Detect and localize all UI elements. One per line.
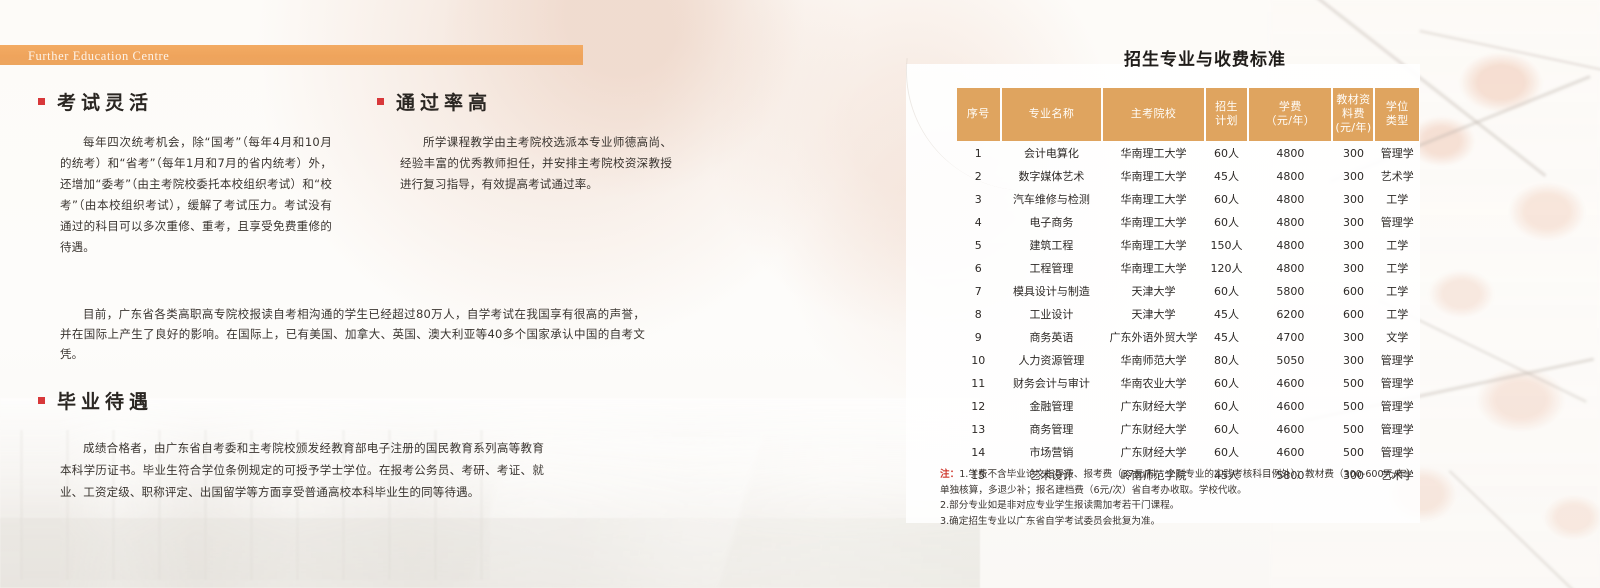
table-column-header-1: 序号 [957, 88, 1000, 141]
table-cell: 人力资源管理 [1002, 348, 1102, 371]
table-row: 4电子商务华南理工大学60人4800300管理学 [957, 210, 1419, 233]
table-cell: 4800 [1249, 233, 1331, 256]
table-column-header-6: 教材资料费(元/年) [1333, 88, 1373, 141]
bullet-square-icon [377, 98, 384, 105]
table-row: 9商务英语广东外语外贸大学45人4700300文学 [957, 325, 1419, 348]
table-row: 2数字媒体艺术华南理工大学45人4800300艺术学 [957, 164, 1419, 187]
section-heading-graduation: 毕业待遇 [38, 387, 153, 414]
table-cell: 45人 [1206, 164, 1248, 187]
table-cell: 600 [1333, 279, 1373, 302]
table-cell: 华南师范大学 [1103, 348, 1203, 371]
table-cell: 60人 [1206, 394, 1248, 417]
table-cell: 工学 [1375, 302, 1419, 325]
table-cell: 120人 [1206, 256, 1248, 279]
table-cell: 工业设计 [1002, 302, 1102, 325]
table-cell: 500 [1333, 440, 1373, 463]
table-cell: 6 [957, 256, 1000, 279]
notes-line-text: 1.学费不含毕业论文指导费、报考费（37元/科，个别专业的实践考核科目例外）；教… [959, 469, 1415, 480]
table-cell: 华南理工大学 [1103, 141, 1203, 164]
table-cell: 数字媒体艺术 [1002, 164, 1102, 187]
table-cell: 300 [1333, 187, 1373, 210]
table-cell: 市场营销 [1002, 440, 1102, 463]
table-cell: 600 [1333, 302, 1373, 325]
table-cell: 500 [1333, 417, 1373, 440]
table-cell: 4600 [1249, 371, 1331, 394]
table-row: 7模具设计与制造天津大学60人5800600工学 [957, 279, 1419, 302]
table-cell: 300 [1333, 233, 1373, 256]
table-cell: 3 [957, 187, 1000, 210]
table-cell: 管理学 [1375, 394, 1419, 417]
table-column-header-5: 学费（元/年） [1249, 88, 1331, 141]
table-cell: 1 [957, 141, 1000, 164]
table-cell: 4600 [1249, 440, 1331, 463]
table-cell: 商务管理 [1002, 417, 1102, 440]
table-cell: 7 [957, 279, 1000, 302]
bullet-square-icon [38, 98, 45, 105]
table-cell: 500 [1333, 394, 1373, 417]
table-cell: 4800 [1249, 210, 1331, 233]
table-cell: 工学 [1375, 256, 1419, 279]
table-cell: 广东财经大学 [1103, 417, 1203, 440]
table-cell: 广东财经大学 [1103, 394, 1203, 417]
table-cell: 广东外语外贸大学 [1103, 325, 1203, 348]
table-cell: 4800 [1249, 164, 1331, 187]
table-row: 1会计电算化华南理工大学60人4800300管理学 [957, 141, 1419, 164]
table-cell: 9 [957, 325, 1000, 348]
section-paragraph-graduation: 成绩合格者，由广东省自考委和主考院校颁发经教育部电子注册的国民教育系列高等教育本… [60, 437, 544, 503]
notes-line: 注：1.学费不含毕业论文指导费、报考费（37元/科，个别专业的实践考核科目例外）… [940, 467, 1430, 483]
table-cell: 5800 [1249, 279, 1331, 302]
table-row: 5建筑工程华南理工大学150人4800300工学 [957, 233, 1419, 256]
table-column-header-4: 招生计划 [1206, 88, 1248, 141]
notes-line: 3.确定招生专业以广东省自学考试委员会批复为准。 [940, 514, 1430, 530]
table-cell: 财务会计与审计 [1002, 371, 1102, 394]
notes-line: 单独核算，多退少补；报名建档费（6元/次）省自考办收取。学校代收。 [940, 483, 1430, 499]
section-paragraph-exam-flexible: 每年四次统考机会，除“国考”（每年4月和10月的统考）和“省考”（每年1月和7月… [60, 132, 332, 258]
table-cell: 60人 [1206, 440, 1248, 463]
table-cell: 80人 [1206, 348, 1248, 371]
table-cell: 5050 [1249, 348, 1331, 371]
table-cell: 60人 [1206, 141, 1248, 164]
notes-marker: 注： [940, 469, 959, 480]
table-cell: 4600 [1249, 417, 1331, 440]
table-cell: 45人 [1206, 302, 1248, 325]
section-heading-exam-flexible: 考试灵活 [38, 88, 153, 115]
table-cell: 300 [1333, 348, 1373, 371]
table-column-header-7: 学位类型 [1375, 88, 1419, 141]
table-notes: 注：1.学费不含毕业论文指导费、报考费（37元/科，个别专业的实践考核科目例外）… [940, 467, 1430, 529]
notes-line: 2.部分专业如是非对应专业学生报读需加考若干门课程。 [940, 498, 1430, 514]
section-paragraph-pass-rate: 所学课程教学由主考院校选派本专业师德高尚、经验丰富的优秀教师担任，并安排主考院校… [400, 132, 672, 195]
table-cell: 4 [957, 210, 1000, 233]
wide-paragraph: 目前，广东省各类高职高专院校报读自考相沟通的学生已经超过80万人，自学考试在我国… [60, 304, 645, 364]
table-cell: 艺术学 [1375, 164, 1419, 187]
section-title: 通过率高 [396, 88, 492, 115]
table-cell: 广东财经大学 [1103, 440, 1203, 463]
table-cell: 500 [1333, 371, 1373, 394]
table-cell: 4700 [1249, 325, 1331, 348]
table-cell: 工程管理 [1002, 256, 1102, 279]
table-cell: 4600 [1249, 394, 1331, 417]
table-cell: 300 [1333, 325, 1373, 348]
table-cell: 60人 [1206, 371, 1248, 394]
table-cell: 60人 [1206, 187, 1248, 210]
table-row: 3汽车维修与检测华南理工大学60人4800300工学 [957, 187, 1419, 210]
section-title: 毕业待遇 [57, 387, 153, 414]
table-cell: 300 [1333, 164, 1373, 187]
table-cell: 60人 [1206, 417, 1248, 440]
table-cell: 工学 [1375, 187, 1419, 210]
table-cell: 建筑工程 [1002, 233, 1102, 256]
table-cell: 华南理工大学 [1103, 164, 1203, 187]
table-cell: 4800 [1249, 141, 1331, 164]
table-cell: 6200 [1249, 302, 1331, 325]
table-cell: 工学 [1375, 279, 1419, 302]
table-cell: 60人 [1206, 279, 1248, 302]
table-cell: 管理学 [1375, 348, 1419, 371]
table-cell: 天津大学 [1103, 302, 1203, 325]
table-cell: 8 [957, 302, 1000, 325]
table-cell: 工学 [1375, 233, 1419, 256]
table-cell: 4800 [1249, 187, 1331, 210]
table-cell: 300 [1333, 256, 1373, 279]
table-cell: 管理学 [1375, 371, 1419, 394]
table-cell: 文学 [1375, 325, 1419, 348]
table-row: 10人力资源管理华南师范大学80人5050300管理学 [957, 348, 1419, 371]
section-title: 考试灵活 [57, 88, 153, 115]
table-cell: 汽车维修与检测 [1002, 187, 1102, 210]
table-cell: 5 [957, 233, 1000, 256]
table-column-header-2: 专业名称 [1002, 88, 1102, 141]
table-row: 14市场营销广东财经大学60人4600500管理学 [957, 440, 1419, 463]
table-cell: 10 [957, 348, 1000, 371]
table-cell: 天津大学 [1103, 279, 1203, 302]
table-cell: 华南农业大学 [1103, 371, 1203, 394]
table-row: 6工程管理华南理工大学120人4800300工学 [957, 256, 1419, 279]
banner-label: Further Education Centre [28, 46, 169, 66]
table-cell: 45人 [1206, 325, 1248, 348]
table-cell: 华南理工大学 [1103, 210, 1203, 233]
table-cell: 13 [957, 417, 1000, 440]
table-cell: 模具设计与制造 [1002, 279, 1102, 302]
bullet-square-icon [38, 397, 45, 404]
table-cell: 华南理工大学 [1103, 187, 1203, 210]
table-cell: 管理学 [1375, 417, 1419, 440]
table-cell: 150人 [1206, 233, 1248, 256]
table-cell: 12 [957, 394, 1000, 417]
table-cell: 14 [957, 440, 1000, 463]
table-row: 11财务会计与审计华南农业大学60人4600500管理学 [957, 371, 1419, 394]
admissions-fee-table: 序号专业名称主考院校招生计划学费（元/年）教材资料费(元/年)学位类型 1会计电… [955, 88, 1421, 486]
table-cell: 金融管理 [1002, 394, 1102, 417]
table-cell: 300 [1333, 210, 1373, 233]
table-cell: 300 [1333, 141, 1373, 164]
table-column-header-3: 主考院校 [1103, 88, 1203, 141]
table-cell: 管理学 [1375, 141, 1419, 164]
table-title: 招生专业与收费标准 [1124, 45, 1286, 70]
table-row: 8工业设计天津大学45人6200600工学 [957, 302, 1419, 325]
section-heading-pass-rate: 通过率高 [377, 88, 492, 115]
table-cell: 电子商务 [1002, 210, 1102, 233]
table-cell: 4800 [1249, 256, 1331, 279]
table-cell: 11 [957, 371, 1000, 394]
table-cell: 商务英语 [1002, 325, 1102, 348]
table-row: 13商务管理广东财经大学60人4600500管理学 [957, 417, 1419, 440]
table-cell: 华南理工大学 [1103, 233, 1203, 256]
table-cell: 会计电算化 [1002, 141, 1102, 164]
table-cell: 60人 [1206, 210, 1248, 233]
table-body: 1会计电算化华南理工大学60人4800300管理学2数字媒体艺术华南理工大学45… [957, 141, 1419, 486]
table-cell: 2 [957, 164, 1000, 187]
table-row: 12金融管理广东财经大学60人4600500管理学 [957, 394, 1419, 417]
table-cell: 管理学 [1375, 440, 1419, 463]
table-header-row: 序号专业名称主考院校招生计划学费（元/年）教材资料费(元/年)学位类型 [957, 88, 1419, 141]
table-cell: 华南理工大学 [1103, 256, 1203, 279]
table-cell: 管理学 [1375, 210, 1419, 233]
